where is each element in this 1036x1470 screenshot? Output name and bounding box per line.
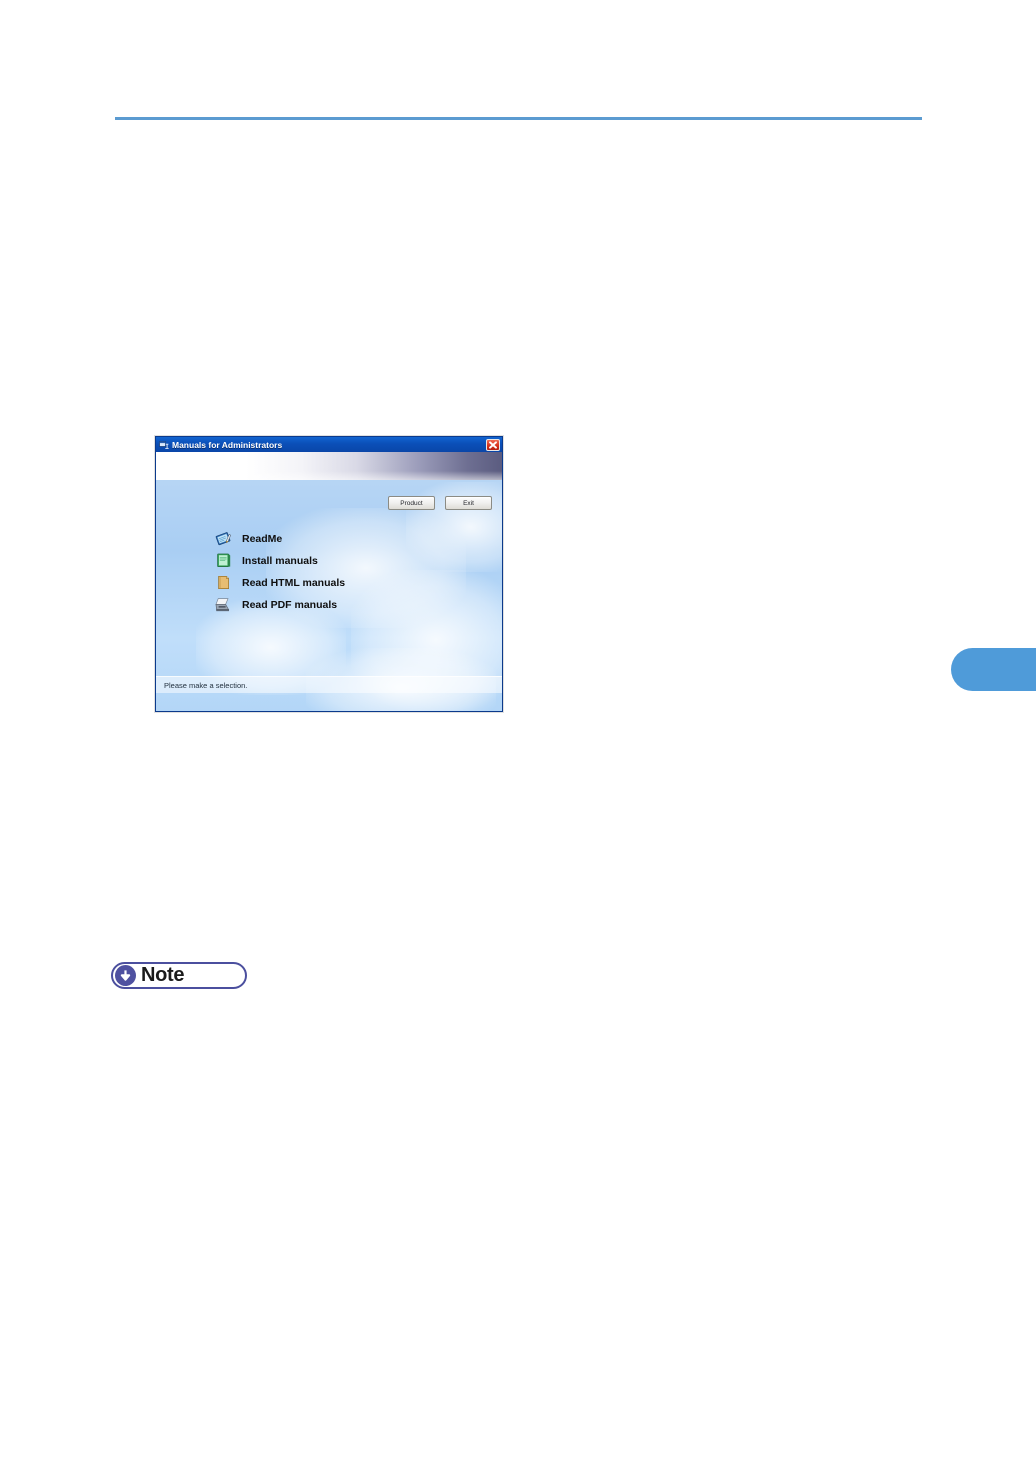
readme-notepad-icon: [214, 531, 232, 547]
product-button[interactable]: Product: [388, 496, 435, 510]
menu-item-read-html-manuals[interactable]: Read HTML manuals: [214, 575, 345, 590]
exit-button[interactable]: Exit: [445, 496, 492, 510]
dialog-title: Manuals for Administrators: [172, 440, 486, 450]
dialog-titlebar[interactable]: Manuals for Administrators: [156, 437, 502, 452]
application-window-icon: [159, 440, 169, 450]
page-side-tab-marker: [951, 648, 1036, 691]
note-badge: Note: [111, 962, 247, 989]
dialog-button-row: Product Exit: [388, 496, 492, 510]
dialog-client-area: Product Exit ReadMe: [156, 452, 502, 711]
menu-item-label: Install manuals: [242, 555, 318, 567]
menu-item-label: ReadMe: [242, 533, 282, 545]
scanner-icon: [214, 597, 232, 613]
install-book-icon: [214, 553, 232, 569]
manuals-dialog-window: Manuals for Administrators Product Exit: [155, 436, 503, 712]
note-badge-label: Note: [141, 965, 184, 986]
menu-item-readme[interactable]: ReadMe: [214, 531, 345, 546]
folder-icon: [214, 575, 232, 591]
menu-item-install-manuals[interactable]: Install manuals: [214, 553, 345, 568]
close-icon[interactable]: [486, 439, 500, 451]
down-arrow-icon: [119, 969, 132, 982]
page-header-rule: [115, 117, 922, 120]
menu-item-read-pdf-manuals[interactable]: Read PDF manuals: [214, 597, 345, 612]
dialog-menu-list: ReadMe Install manuals: [214, 531, 345, 612]
menu-item-label: Read PDF manuals: [242, 599, 337, 611]
dialog-header-banner: [156, 452, 502, 480]
dialog-status-bar: Please make a selection.: [156, 676, 502, 693]
menu-item-label: Read HTML manuals: [242, 577, 345, 589]
status-message: Please make a selection.: [164, 681, 247, 690]
